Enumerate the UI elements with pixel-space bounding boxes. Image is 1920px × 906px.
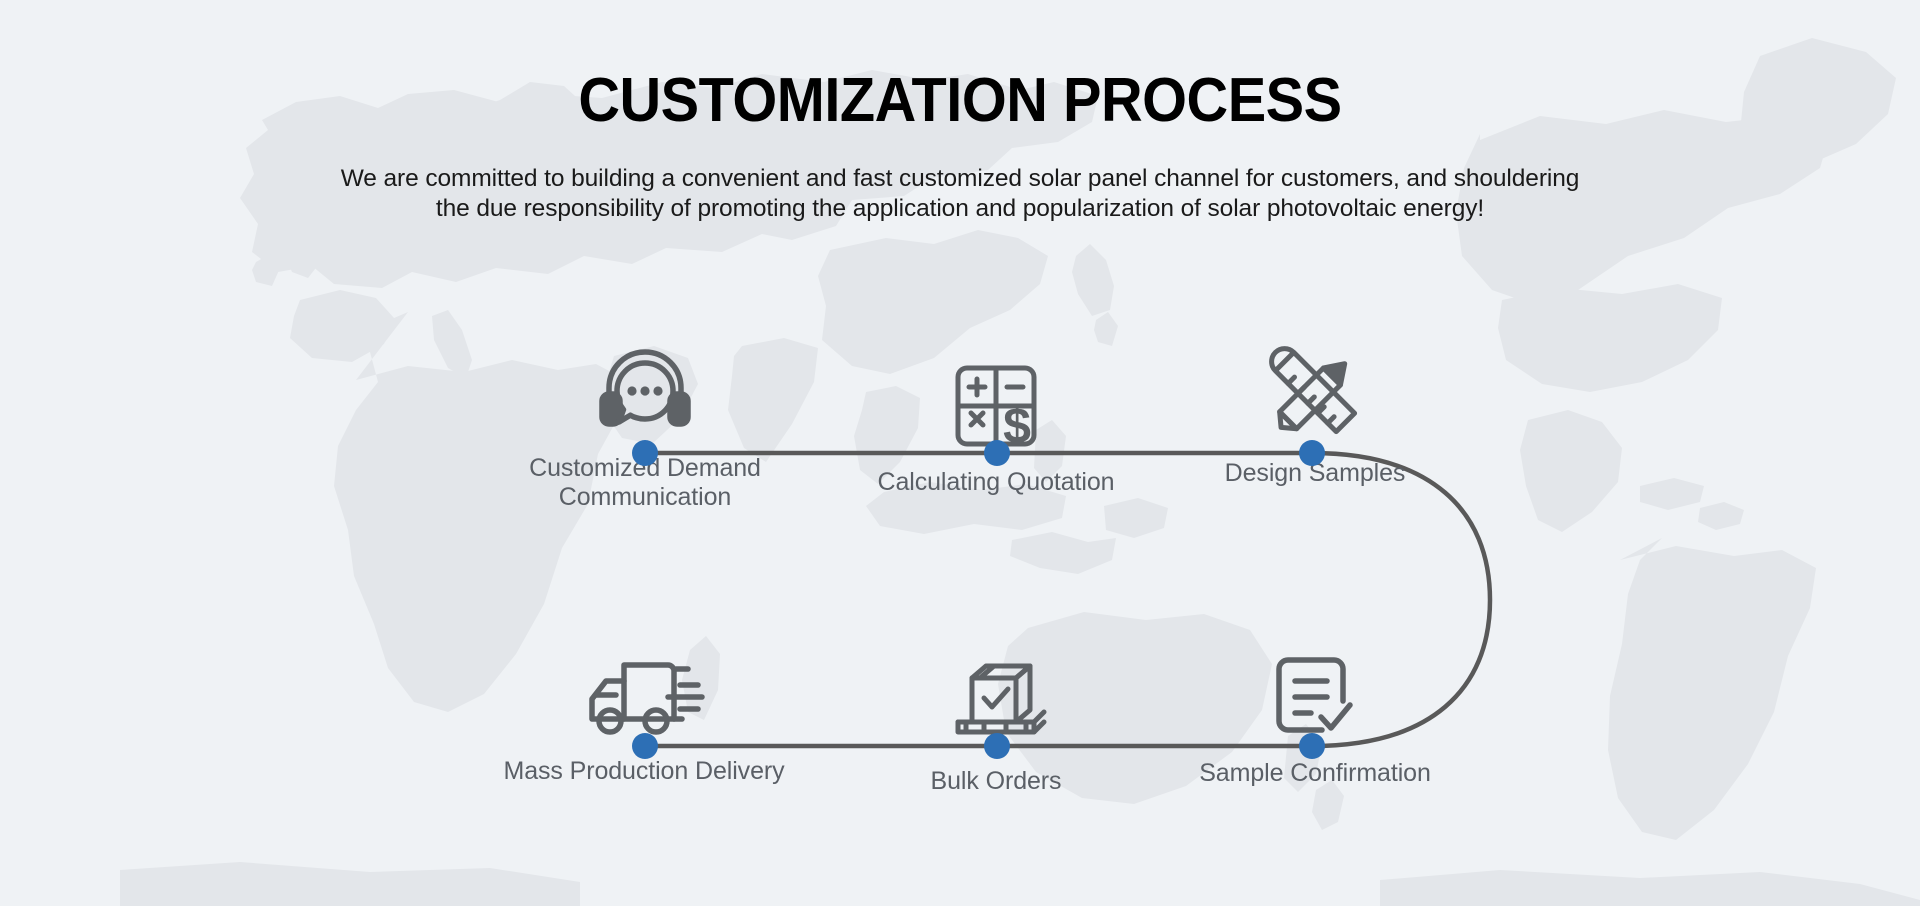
node-design-samples[interactable] <box>1299 440 1325 466</box>
node-bulk-orders[interactable] <box>984 733 1010 759</box>
node-calculating-quotation[interactable] <box>984 440 1010 466</box>
node-customized-demand-communication[interactable] <box>632 440 658 466</box>
node-sample-confirmation[interactable] <box>1299 733 1325 759</box>
page-stage: CUSTOMIZATION PROCESS We are committed t… <box>0 0 1920 906</box>
process-nodes <box>0 0 1920 906</box>
node-mass-production-delivery[interactable] <box>632 733 658 759</box>
